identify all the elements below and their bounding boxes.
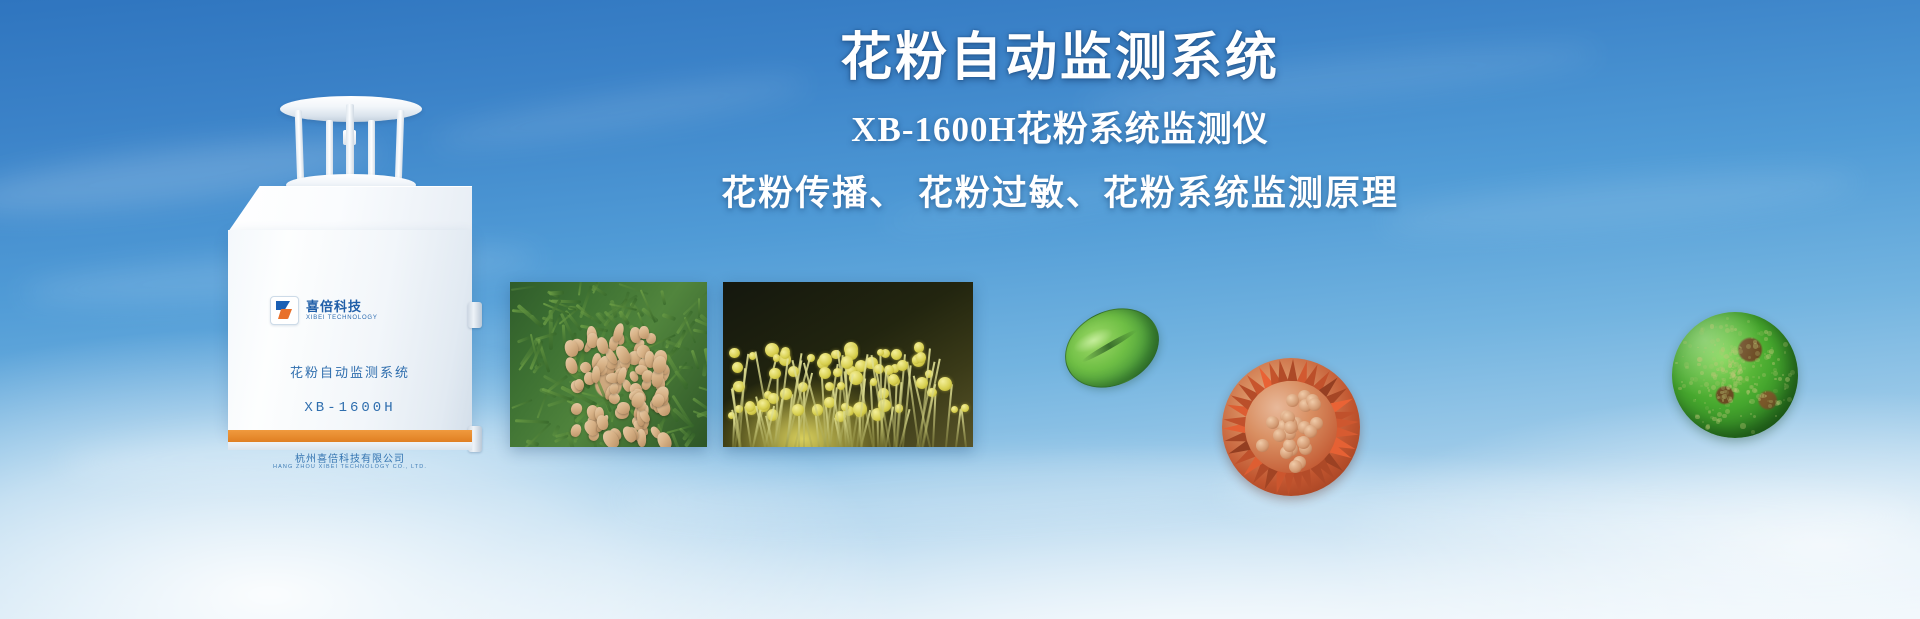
anther-detail bbox=[897, 360, 908, 371]
needle-detail bbox=[662, 313, 676, 321]
anther-detail bbox=[888, 374, 899, 385]
pollen-bump bbox=[1266, 416, 1279, 429]
pollen-bump bbox=[1283, 439, 1296, 452]
surface-speck bbox=[1702, 421, 1704, 423]
surface-speck bbox=[1678, 387, 1681, 390]
anther-detail bbox=[732, 362, 743, 373]
needle-detail bbox=[670, 433, 684, 447]
surface-speck bbox=[1715, 326, 1717, 328]
surface-speck bbox=[1755, 351, 1760, 356]
needle-detail bbox=[578, 282, 583, 295]
pollen-bump bbox=[1256, 439, 1269, 452]
device-company-en: HANG ZHOU XIBEI TECHNOLOGY CO., LTD. bbox=[228, 464, 472, 470]
surface-speck bbox=[1690, 377, 1693, 380]
surface-speck bbox=[1683, 341, 1686, 344]
surface-speck bbox=[1765, 391, 1767, 393]
needle-detail bbox=[693, 328, 707, 334]
pollen-cone-detail bbox=[595, 335, 610, 354]
needle-detail bbox=[512, 399, 533, 409]
device-logo: 喜倍科技 XIBEI TECHNOLOGY bbox=[270, 296, 378, 325]
surface-speck bbox=[1746, 344, 1751, 349]
surface-speck bbox=[1775, 415, 1777, 417]
surface-speck bbox=[1709, 364, 1714, 369]
surface-speck bbox=[1783, 342, 1788, 347]
surface-speck bbox=[1734, 328, 1737, 331]
surface-speck bbox=[1760, 364, 1763, 367]
surface-speck bbox=[1758, 398, 1761, 401]
surface-speck bbox=[1708, 389, 1710, 391]
surface-speck bbox=[1736, 357, 1739, 360]
pollen-cone-detail bbox=[617, 402, 630, 415]
surface-speck bbox=[1715, 374, 1718, 377]
surface-speck bbox=[1734, 388, 1739, 393]
sampler-leg bbox=[295, 110, 305, 186]
needle-detail bbox=[511, 285, 538, 291]
xibei-logo-icon bbox=[270, 296, 299, 325]
surface-speck bbox=[1717, 412, 1722, 417]
surface-speck bbox=[1689, 381, 1693, 385]
pollen-spike bbox=[1287, 359, 1298, 381]
cloud-streak bbox=[619, 443, 1321, 533]
anther-detail bbox=[769, 368, 781, 380]
surface-speck bbox=[1704, 402, 1706, 404]
surface-speck bbox=[1738, 382, 1741, 385]
pollen-monitor-banner: 花粉自动监测系统 XB-1600H花粉系统监测仪 花粉传播、 花粉过敏、花粉系统… bbox=[0, 0, 1920, 619]
surface-speck bbox=[1769, 351, 1773, 355]
surface-speck bbox=[1697, 363, 1700, 366]
anther-detail bbox=[819, 367, 831, 379]
device-brand-en: XIBEI TECHNOLOGY bbox=[306, 315, 378, 321]
surface-speck bbox=[1719, 325, 1723, 329]
surface-speck bbox=[1764, 337, 1768, 341]
surface-speck bbox=[1726, 317, 1729, 320]
filament-detail bbox=[945, 385, 953, 447]
green-ellipsoid-pollen-grain-icon bbox=[1052, 293, 1173, 402]
surface-speck bbox=[1758, 376, 1760, 378]
photo-yellow-anthers bbox=[723, 282, 973, 447]
surface-speck bbox=[1704, 347, 1707, 350]
surface-speck bbox=[1756, 383, 1758, 385]
banner-text-block: 花粉自动监测系统 XB-1600H花粉系统监测仪 花粉传播、 花粉过敏、花粉系统… bbox=[560, 28, 1560, 215]
surface-speck bbox=[1722, 414, 1727, 419]
surface-speck bbox=[1738, 369, 1743, 374]
surface-speck bbox=[1725, 409, 1730, 414]
surface-speck bbox=[1697, 357, 1702, 362]
anther-detail bbox=[891, 349, 902, 360]
surface-speck bbox=[1681, 381, 1683, 383]
device-company-cn: 杭州喜倍科技有限公司 bbox=[228, 450, 472, 465]
needle-detail bbox=[683, 287, 707, 316]
surface-speck bbox=[1710, 339, 1715, 344]
surface-speck bbox=[1778, 377, 1782, 381]
anther-detail bbox=[773, 354, 780, 361]
pollen-bump bbox=[1308, 398, 1321, 411]
device-model: XB-1600H bbox=[228, 400, 472, 416]
surface-speck bbox=[1751, 430, 1755, 434]
surface-speck bbox=[1720, 361, 1724, 365]
anther-detail bbox=[833, 368, 842, 377]
surface-speck bbox=[1783, 399, 1785, 401]
anther-detail bbox=[961, 404, 969, 412]
surface-speck bbox=[1752, 376, 1755, 379]
banner-headline: 花粉自动监测系统 bbox=[560, 28, 1560, 89]
anther-detail bbox=[729, 348, 739, 358]
surface-speck bbox=[1772, 362, 1775, 365]
anther-detail bbox=[841, 356, 853, 368]
surface-speck bbox=[1754, 389, 1758, 393]
surface-speck bbox=[1790, 370, 1795, 375]
banner-tagline: 花粉传播、 花粉过敏、花粉系统监测原理 bbox=[560, 173, 1560, 215]
surface-speck bbox=[1721, 385, 1726, 390]
surface-speck bbox=[1787, 397, 1792, 402]
needle-detail bbox=[706, 362, 707, 401]
surface-speck bbox=[1684, 362, 1689, 367]
surface-speck bbox=[1721, 370, 1726, 375]
surface-speck bbox=[1764, 353, 1766, 355]
surface-speck bbox=[1725, 324, 1728, 327]
cabinet-handle-top[interactable] bbox=[468, 302, 482, 328]
surface-speck bbox=[1712, 351, 1714, 353]
surface-speck bbox=[1703, 379, 1705, 381]
surface-speck bbox=[1754, 362, 1756, 364]
surface-speck bbox=[1722, 380, 1726, 384]
surface-speck bbox=[1723, 343, 1725, 345]
surface-speck bbox=[1774, 378, 1776, 380]
surface-speck bbox=[1754, 383, 1756, 385]
device-cabinet: 喜倍科技 XIBEI TECHNOLOGY 花粉自动监测系统 XB-1600H … bbox=[228, 186, 472, 448]
surface-speck bbox=[1688, 344, 1692, 348]
needle-detail bbox=[660, 291, 666, 306]
anther-detail bbox=[745, 401, 756, 412]
surface-speck bbox=[1734, 362, 1736, 364]
surface-speck bbox=[1782, 374, 1784, 376]
surface-speck bbox=[1703, 351, 1705, 353]
banner-subheadline: XB-1600H花粉系统监测仪 bbox=[560, 109, 1560, 151]
surface-speck bbox=[1706, 424, 1710, 428]
surface-speck bbox=[1773, 389, 1778, 394]
surface-speck bbox=[1738, 331, 1743, 336]
anther-detail bbox=[916, 352, 927, 363]
surface-speck bbox=[1768, 404, 1772, 408]
surface-speck bbox=[1682, 384, 1686, 388]
surface-speck bbox=[1740, 423, 1745, 428]
anther-detail bbox=[825, 382, 834, 391]
pollen-bump bbox=[1286, 394, 1299, 407]
device-product-name: 花粉自动监测系统 bbox=[228, 362, 472, 381]
rough-green-pollen-grain-icon bbox=[1672, 312, 1798, 438]
spiky-orange-pollen-grain-icon bbox=[1222, 358, 1360, 496]
surface-speck bbox=[1751, 337, 1753, 339]
surface-speck bbox=[1762, 394, 1765, 397]
cabinet-accent-stripe bbox=[228, 430, 472, 442]
surface-speck bbox=[1734, 382, 1737, 385]
surface-speck bbox=[1738, 349, 1743, 354]
surface-speck bbox=[1712, 357, 1716, 361]
surface-speck bbox=[1709, 394, 1712, 397]
surface-speck bbox=[1748, 356, 1751, 359]
surface-speck bbox=[1725, 328, 1730, 333]
cabinet-top-panel bbox=[228, 186, 472, 232]
pollen-bump bbox=[1273, 429, 1286, 442]
device-brand-cn: 喜倍科技 bbox=[306, 300, 378, 314]
surface-speck bbox=[1777, 358, 1780, 361]
surface-speck bbox=[1725, 403, 1730, 408]
surface-speck bbox=[1771, 347, 1773, 349]
needle-detail bbox=[640, 289, 656, 322]
sampler-leg bbox=[395, 110, 405, 186]
surface-speck bbox=[1753, 415, 1756, 418]
needle-detail bbox=[515, 419, 549, 424]
monitor-device-illustration: 喜倍科技 XIBEI TECHNOLOGY 花粉自动监测系统 XB-1600H … bbox=[200, 78, 500, 448]
surface-speck bbox=[1698, 390, 1701, 393]
surface-speck bbox=[1784, 351, 1787, 354]
surface-speck bbox=[1721, 347, 1725, 351]
anther-detail bbox=[759, 400, 769, 410]
pollen-cone-detail bbox=[639, 326, 649, 339]
surface-speck bbox=[1717, 396, 1720, 399]
surface-speck bbox=[1716, 338, 1720, 342]
anther-detail bbox=[780, 349, 790, 359]
surface-speck bbox=[1703, 365, 1707, 369]
surface-speck bbox=[1747, 320, 1750, 323]
surface-speck bbox=[1746, 379, 1749, 382]
surface-speck bbox=[1729, 352, 1733, 356]
surface-speck bbox=[1675, 362, 1678, 365]
surface-speck bbox=[1743, 367, 1746, 370]
surface-speck bbox=[1784, 384, 1789, 389]
anther-detail bbox=[951, 406, 958, 413]
surface-speck bbox=[1712, 417, 1717, 422]
surface-speck bbox=[1755, 358, 1759, 362]
cabinet-base bbox=[228, 442, 472, 450]
cabinet-front-panel: 喜倍科技 XIBEI TECHNOLOGY 花粉自动监测系统 XB-1600H … bbox=[228, 230, 472, 430]
needle-detail bbox=[699, 386, 707, 397]
surface-speck bbox=[1711, 385, 1716, 390]
surface-speck bbox=[1767, 331, 1772, 336]
surface-speck bbox=[1785, 377, 1790, 382]
surface-speck bbox=[1693, 399, 1696, 402]
surface-speck bbox=[1710, 324, 1715, 329]
surface-speck bbox=[1714, 362, 1718, 366]
anther-detail bbox=[870, 378, 878, 386]
surface-speck bbox=[1750, 413, 1752, 415]
needle-detail bbox=[517, 303, 544, 327]
surface-speck bbox=[1717, 418, 1722, 423]
surface-speck bbox=[1700, 385, 1703, 388]
anther-detail bbox=[837, 382, 845, 390]
surface-speck bbox=[1700, 371, 1705, 376]
anther-detail bbox=[792, 404, 804, 416]
surface-speck bbox=[1733, 350, 1738, 355]
surface-speck bbox=[1747, 390, 1750, 393]
surface-speck bbox=[1719, 408, 1721, 410]
surface-speck bbox=[1740, 415, 1742, 417]
needle-detail bbox=[618, 283, 648, 295]
surface-speck bbox=[1715, 381, 1720, 386]
surface-speck bbox=[1728, 399, 1732, 403]
pollen-cone-detail bbox=[609, 382, 619, 394]
surface-speck bbox=[1723, 355, 1726, 358]
pollen-bump bbox=[1297, 436, 1310, 449]
surface-speck bbox=[1753, 343, 1758, 348]
surface-speck bbox=[1712, 409, 1714, 411]
anther-detail bbox=[819, 353, 832, 366]
surface-speck bbox=[1757, 332, 1760, 335]
surface-speck bbox=[1738, 376, 1742, 380]
surface-speck bbox=[1699, 330, 1704, 335]
surface-speck bbox=[1682, 356, 1684, 358]
surface-speck bbox=[1714, 344, 1716, 346]
surface-speck bbox=[1752, 365, 1756, 369]
surface-speck bbox=[1762, 373, 1766, 377]
filament-detail bbox=[960, 408, 967, 447]
surface-speck bbox=[1697, 347, 1699, 349]
photo-cedar-pollen-cones bbox=[510, 282, 707, 447]
surface-speck bbox=[1773, 371, 1778, 376]
needle-detail bbox=[548, 291, 563, 295]
